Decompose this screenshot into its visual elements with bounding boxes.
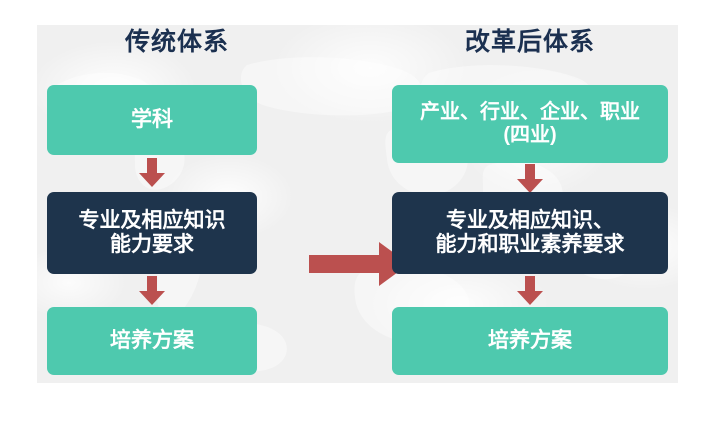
arrow-down-icon-left-2 — [135, 274, 169, 308]
arrow-down-icon-right-1 — [513, 162, 547, 196]
arrow-down-icon-left-1 — [135, 156, 169, 190]
column-title-reformed: 改革后体系 — [392, 30, 668, 55]
arrow-down-icon-right-2 — [513, 274, 547, 308]
node-label-line: 能力要求 — [79, 233, 226, 257]
node-label-line: 专业及相应知识、 — [436, 209, 625, 233]
node-label-line: 专业及相应知识 — [79, 209, 226, 233]
slide-canvas: 传统体系 学科 专业及相应知识 能力要求 培养方案 — [0, 0, 703, 433]
node-reformed-four-industries[interactable]: 产业、行业、企业、职业 (四业) — [392, 85, 668, 163]
column-title-traditional: 传统体系 — [47, 30, 307, 55]
node-traditional-discipline[interactable]: 学科 — [47, 85, 257, 155]
node-label-line: 学科 — [131, 108, 173, 132]
node-label-line: 产业、行业、企业、职业 — [420, 101, 640, 124]
node-label-line: 培养方案 — [488, 329, 572, 353]
node-traditional-requirements[interactable]: 专业及相应知识 能力要求 — [47, 192, 257, 274]
node-traditional-training-plan[interactable]: 培养方案 — [47, 307, 257, 375]
node-label-line: 培养方案 — [110, 329, 194, 353]
node-reformed-requirements[interactable]: 专业及相应知识、 能力和职业素养要求 — [392, 192, 668, 274]
node-reformed-training-plan[interactable]: 培养方案 — [392, 307, 668, 375]
node-label-line: (四业) — [420, 124, 640, 147]
node-label-line: 能力和职业素养要求 — [436, 233, 625, 257]
diagram-panel: 传统体系 学科 专业及相应知识 能力要求 培养方案 — [37, 25, 678, 383]
